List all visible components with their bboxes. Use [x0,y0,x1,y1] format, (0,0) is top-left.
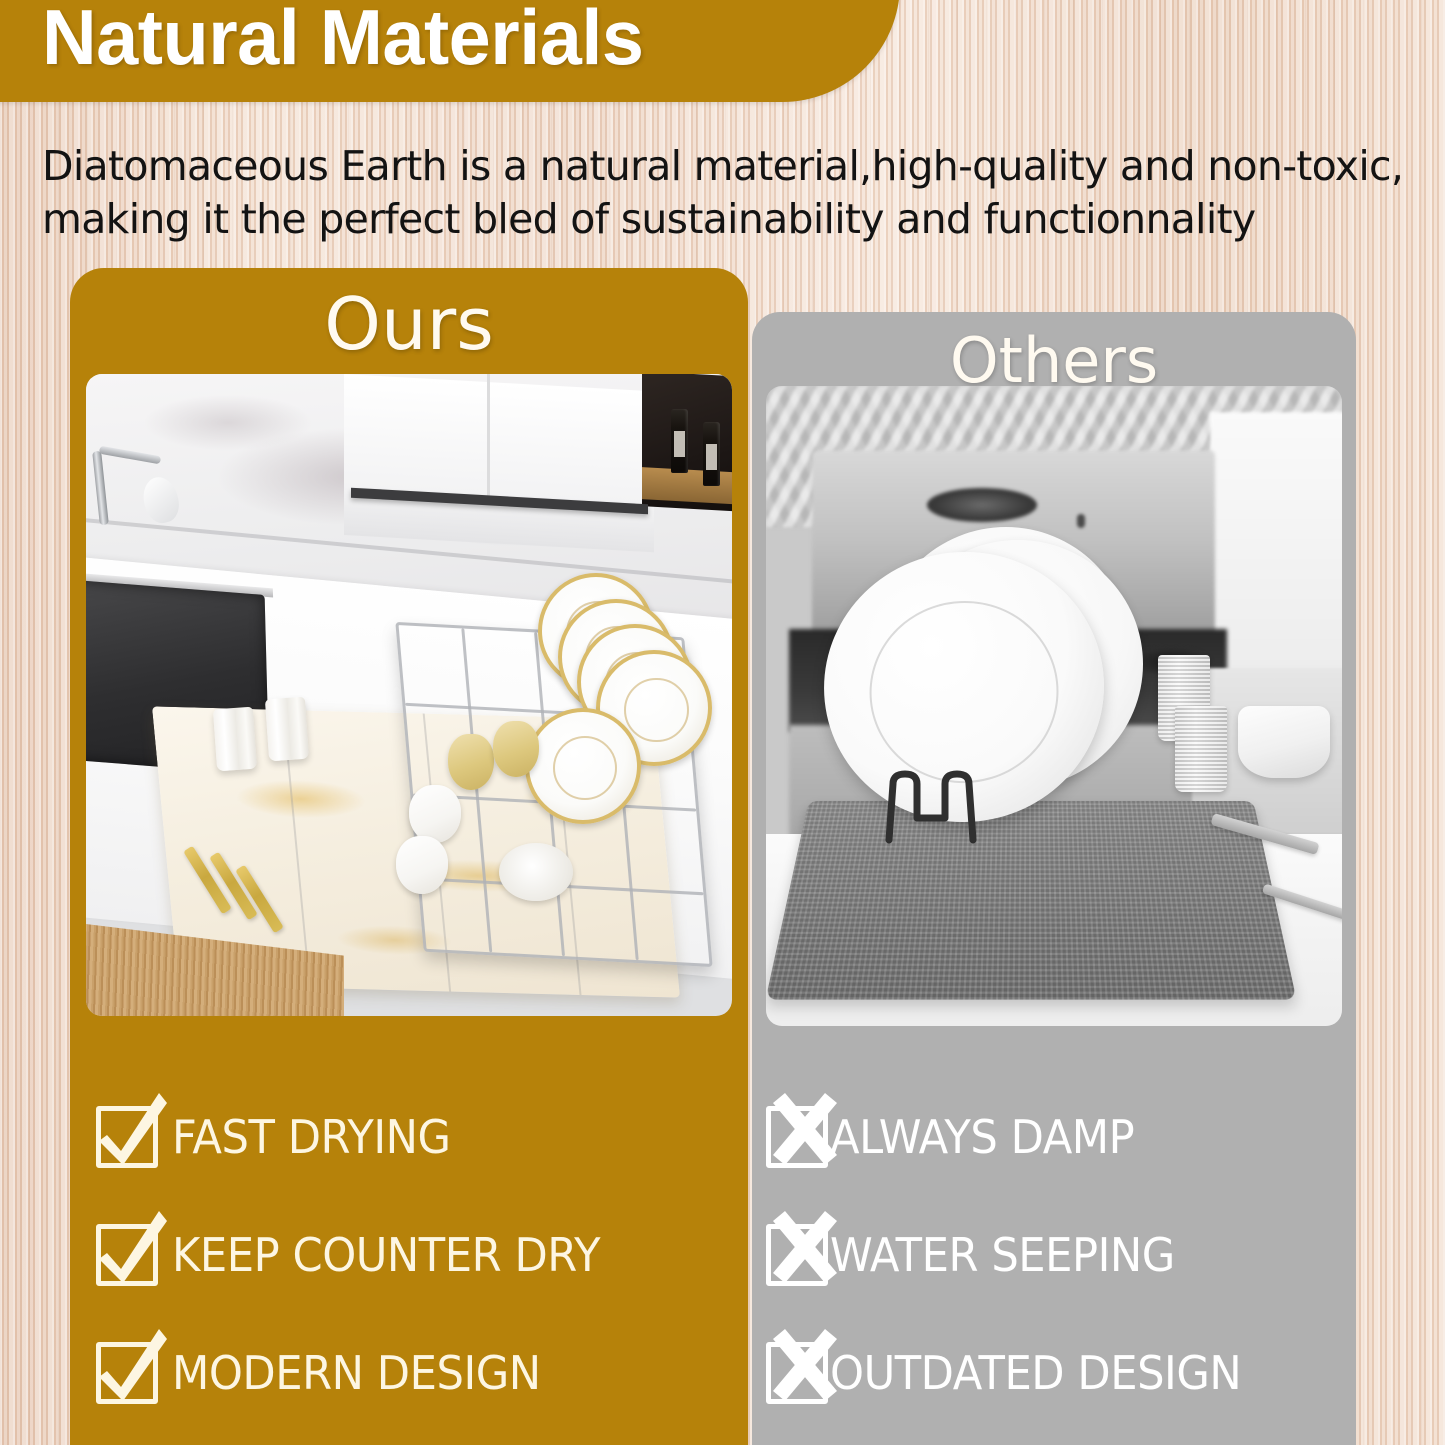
description-line-1: Diatomaceous Earth is a natural material… [42,140,1442,193]
panel-others: Others [752,312,1356,1445]
feature-row: WATER SEEPING [752,1196,1356,1314]
stove-indicator [1077,514,1085,528]
photo-ours [86,374,732,1016]
cabinet-seam [487,374,490,502]
checkbox-outline [766,1224,828,1286]
feature-row: ALWAYS DAMP [752,1078,1356,1196]
feature-label: OUTDATED DESIGN [830,1346,1241,1400]
photo-others [766,386,1342,1026]
feature-label: ALWAYS DAMP [830,1110,1134,1164]
right-wall [1210,412,1342,694]
panel-ours: Ours [70,268,748,1445]
wire-plate-stand [881,744,1031,844]
feature-list-others: ALWAYS DAMP WATER SEEPING [752,1078,1356,1432]
white-cup [409,785,461,843]
check-icon [85,1089,169,1175]
description-line-2: making it the perfect bled of sustainabi… [42,193,1442,246]
white-pot [1238,706,1330,778]
white-cup [396,836,448,894]
panel-heading-ours: Ours [70,282,748,366]
title-banner: Natural Materials [0,0,900,102]
checkbox-outline [766,1106,828,1168]
checkbox-outline [96,1106,158,1168]
feature-row: OUTDATED DESIGN [752,1314,1356,1432]
infographic-page: Natural Materials Diatomaceous Earth is … [0,0,1445,1445]
checkbox-outline [96,1224,158,1286]
check-icon [85,1207,169,1293]
upper-cabinet [344,374,654,552]
drinking-glass [265,697,309,762]
checkbox-outline [96,1342,158,1404]
gold-cup [448,734,494,790]
checkbox-outline [766,1342,828,1404]
feature-label: WATER SEEPING [830,1228,1175,1282]
drinking-glass [1175,706,1227,792]
feature-row: KEEP COUNTER DRY [70,1196,748,1314]
feature-label: MODERN DESIGN [172,1346,541,1400]
feature-label: KEEP COUNTER DRY [172,1228,600,1282]
feature-label: FAST DRYING [172,1110,451,1164]
page-title: Natural Materials [42,0,643,83]
feature-list-ours: FAST DRYING KEEP COUNTER DRY MODERN DESI… [70,1078,748,1432]
white-bowl [499,843,573,901]
bottle-icon [703,422,720,486]
description-text: Diatomaceous Earth is a natural material… [42,140,1442,246]
rack-bar [461,628,492,952]
drinking-glass [213,707,257,772]
bottle-icon [671,409,688,473]
feature-row: FAST DRYING [70,1078,748,1196]
check-icon [85,1325,169,1411]
gold-rim-plate [525,708,641,824]
gold-cup [493,721,539,777]
feature-row: MODERN DESIGN [70,1314,748,1432]
